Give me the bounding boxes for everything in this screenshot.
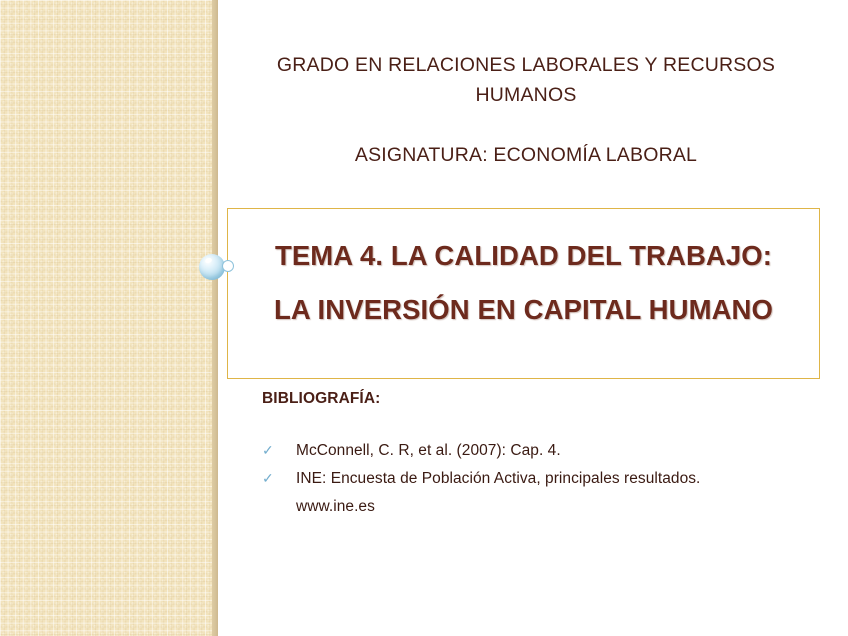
list-item: ✓ McConnell, C. R, et al. (2007): Cap. 4…	[262, 438, 802, 463]
checkmark-icon: ✓	[262, 438, 275, 463]
header-block: GRADO EN RELACIONES LABORALES Y RECURSOS…	[228, 50, 824, 170]
bibliography-entry-text: INE: Encuesta de Población Activa, princ…	[296, 466, 700, 491]
list-item: ✓ INE: Encuesta de Población Activa, pri…	[262, 466, 802, 491]
decorative-ring-icon	[222, 260, 234, 272]
bibliography-url-text: www.ine.es	[296, 494, 802, 519]
title-box: TEMA 4. LA CALIDAD DEL TRABAJO: LA INVER…	[227, 208, 820, 379]
bibliography-entry-text: McConnell, C. R, et al. (2007): Cap. 4.	[296, 438, 561, 463]
degree-title-line-2: HUMANOS	[228, 80, 824, 110]
topic-title-line-2: LA INVERSIÓN EN CAPITAL HUMANO	[228, 283, 819, 337]
slide-canvas: GRADO EN RELACIONES LABORALES Y RECURSOS…	[0, 0, 848, 636]
checkmark-icon: ✓	[262, 466, 275, 491]
bibliography-heading: BIBLIOGRAFÍA:	[262, 390, 802, 408]
bibliography-list: ✓ McConnell, C. R, et al. (2007): Cap. 4…	[262, 438, 802, 491]
subject-title: ASIGNATURA: ECONOMÍA LABORAL	[228, 140, 824, 170]
degree-title-line-1: GRADO EN RELACIONES LABORALES Y RECURSOS	[228, 50, 824, 80]
decorative-sidebar-texture	[0, 0, 212, 636]
sidebar-edge-band	[212, 0, 218, 636]
title-box-inner: TEMA 4. LA CALIDAD DEL TRABAJO: LA INVER…	[228, 229, 819, 337]
bibliography-section: BIBLIOGRAFÍA: ✓ McConnell, C. R, et al. …	[262, 390, 802, 519]
topic-title-line-1: TEMA 4. LA CALIDAD DEL TRABAJO:	[228, 229, 819, 283]
